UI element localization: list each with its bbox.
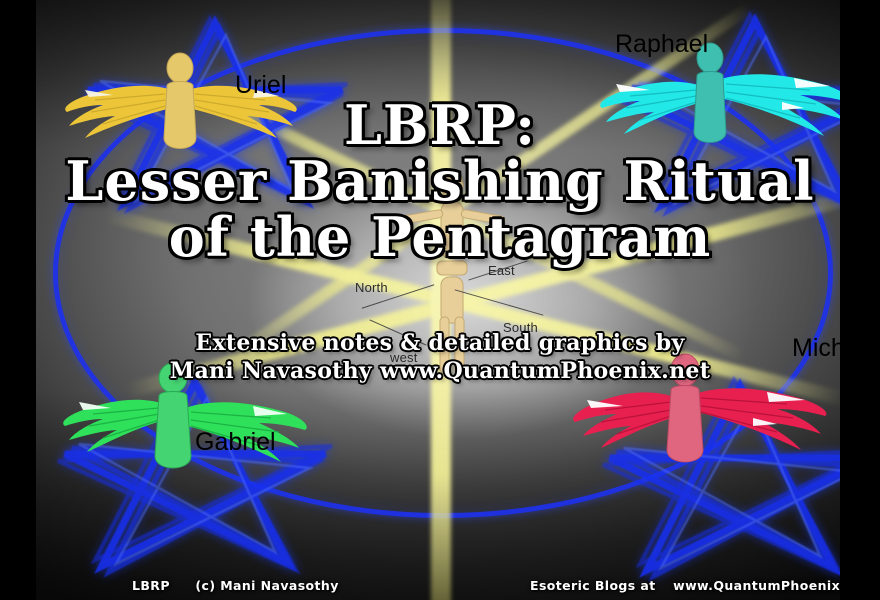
background-scene: Uriel Raphael xyxy=(35,0,840,600)
footer: LBRP (c) Mani Navasothy Esoteric Blogs a… xyxy=(0,570,880,600)
letterbox-bar-right xyxy=(840,0,880,600)
footer-copyright: (c) Mani Navasothy xyxy=(195,578,338,593)
letterbox-bar-left xyxy=(0,0,36,600)
angel-label-raphael: Raphael xyxy=(615,30,708,59)
footer-left: LBRP (c) Mani Navasothy xyxy=(132,578,339,593)
angel-label-gabriel: Gabriel xyxy=(195,428,276,457)
footer-blogs-label: Esoteric Blogs at xyxy=(530,578,656,593)
subtitle-line-1: Extensive notes & detailed graphics by xyxy=(0,330,880,358)
subtitle-credits: Extensive notes & detailed graphics by M… xyxy=(0,330,880,385)
angel-label-uriel: Uriel xyxy=(235,71,286,100)
subtitle-line-2: Mani Navasothy www.QuantumPhoenix.net xyxy=(0,358,880,386)
page-title: LBRP: Lesser Banishing Ritual of the Pen… xyxy=(0,98,880,264)
title-line-2: Lesser Banishing Ritual xyxy=(0,154,880,208)
footer-title: LBRP xyxy=(132,578,170,593)
slide-canvas: Uriel Raphael xyxy=(0,0,880,600)
title-line-1: LBRP: xyxy=(0,98,880,152)
compass-label-north: North xyxy=(355,280,388,295)
title-line-3: of the Pentagram xyxy=(0,210,880,264)
footer-right: Esoteric Blogs at www.QuantumPhoenix.net xyxy=(530,578,870,593)
